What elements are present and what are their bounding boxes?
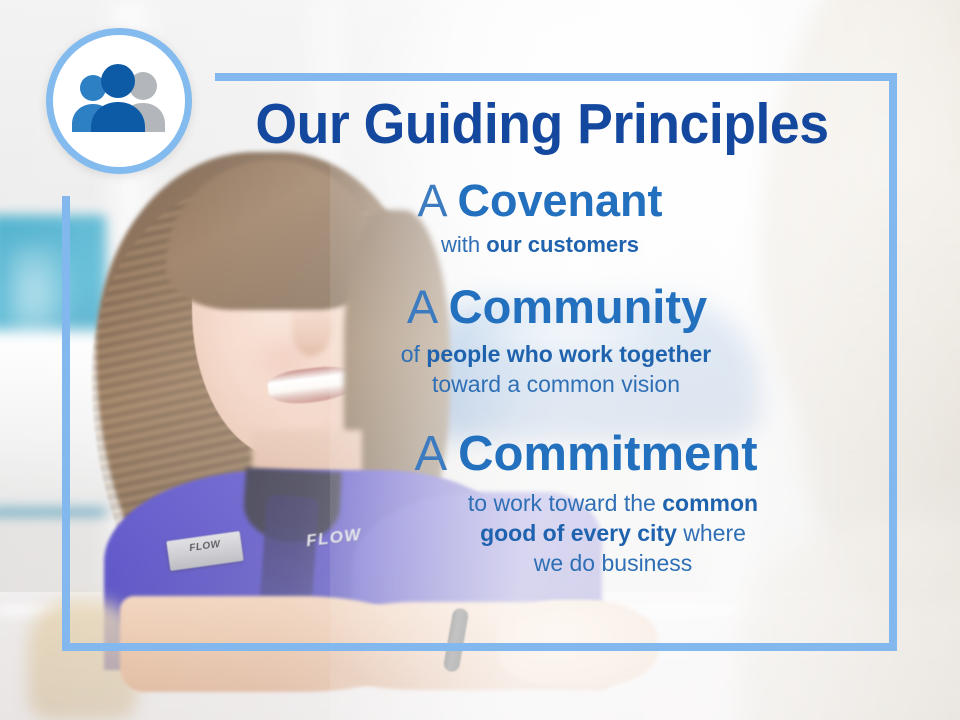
- principle-subtext-line: good of every city where: [346, 519, 880, 549]
- guiding-principles-banner: FLOW FLOW Our Guiding Principles: [0, 0, 960, 720]
- principle-article: A: [414, 427, 458, 481]
- subtext-plain: of: [401, 341, 427, 367]
- principle-heading: A Community: [200, 283, 880, 331]
- principle-subtext: with our customers: [200, 231, 880, 260]
- subtext-emphasis: our customers: [486, 232, 639, 257]
- principle-subtext-line: we do business: [346, 549, 880, 579]
- photo-woman-hands: [498, 600, 658, 686]
- principle-subtext-line: with our customers: [200, 231, 880, 260]
- subtext-plain: we do business: [534, 550, 693, 576]
- subtext-plain: with: [441, 232, 486, 257]
- principle-subtext-line: of people who work together: [232, 340, 880, 370]
- subtext-plain: where: [677, 520, 746, 546]
- principles-list: A Covenant with our customers A Communit…: [200, 178, 880, 595]
- principle-article: A: [407, 280, 449, 333]
- principle-covenant: A Covenant with our customers: [200, 178, 880, 259]
- subtext-plain: to work toward the: [468, 490, 662, 516]
- principle-keyword: Community: [449, 280, 708, 333]
- subtext-plain: toward a common vision: [432, 371, 680, 397]
- principle-heading: A Covenant: [200, 178, 880, 224]
- principle-subtext-line: toward a common vision: [232, 370, 880, 400]
- people-group-icon-badge: [46, 28, 192, 174]
- principle-keyword: Covenant: [458, 175, 663, 226]
- principle-keyword: Commitment: [458, 427, 757, 481]
- principle-subtext: of people who work togethertoward a comm…: [200, 340, 880, 400]
- people-group-icon: [67, 64, 171, 138]
- principle-article: A: [417, 175, 457, 226]
- subtext-emphasis: good of every city: [480, 520, 677, 546]
- subtext-emphasis: common: [662, 490, 758, 516]
- principle-subtext-line: to work toward the common: [346, 489, 880, 519]
- principle-subtext: to work toward the commongood of every c…: [200, 489, 880, 579]
- subtext-emphasis: people who work together: [426, 341, 711, 367]
- principle-commitment: A Commitment to work toward the commongo…: [200, 430, 880, 579]
- page-title: Our Guiding Principles: [232, 96, 852, 153]
- principle-community: A Community of people who work togethert…: [200, 283, 880, 400]
- principle-heading: A Commitment: [200, 430, 880, 480]
